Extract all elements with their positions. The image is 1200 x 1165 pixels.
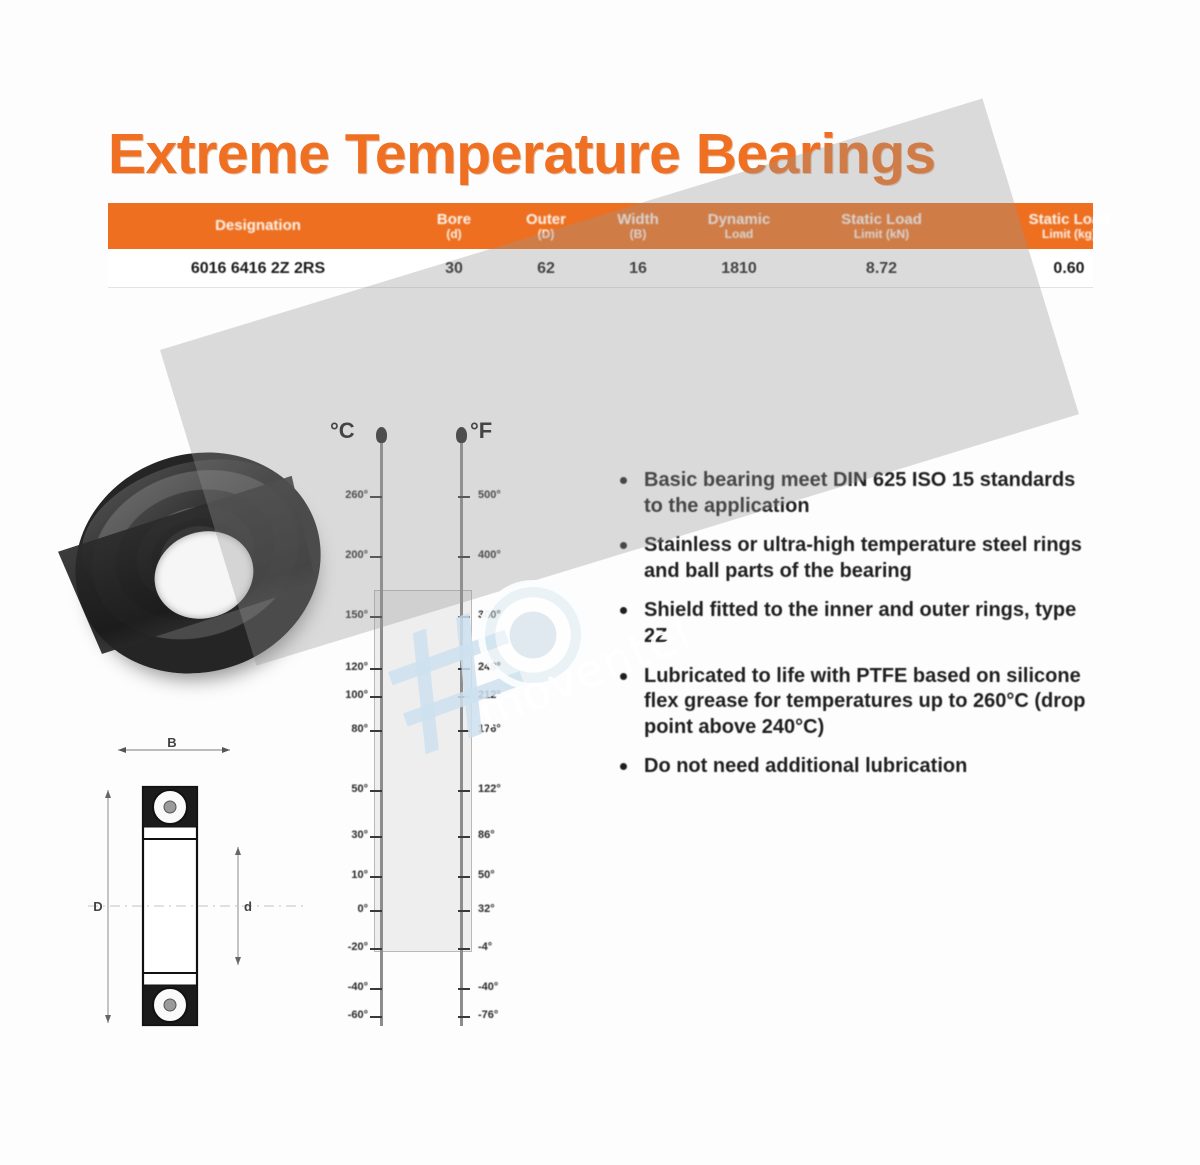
operating-range-box xyxy=(374,590,472,952)
thermometer-tube-fahrenheit xyxy=(460,432,463,1026)
feature-list: Basic bearing meet DIN 625 ISO 15 standa… xyxy=(578,468,1088,794)
column-header-width: Width (B) xyxy=(592,212,684,240)
cell-static-load-kn: 8.72 xyxy=(794,260,969,278)
dimension-label-width: B xyxy=(167,735,176,750)
tick-label-fahrenheit: -76° xyxy=(478,1009,526,1021)
tick-label-celsius: 120° xyxy=(324,661,368,673)
column-header-bore: Bore (d) xyxy=(408,212,500,240)
column-header-dynamic-load: Dynamic Load xyxy=(684,212,794,240)
tick-label-fahrenheit: 300° xyxy=(478,609,526,621)
list-item: Shield fitted to the inner and outer rin… xyxy=(618,598,1088,649)
column-header-designation-label: Designation xyxy=(215,217,301,234)
bearing-cross-section-drawing: B D d xyxy=(80,735,315,1035)
cell-dynamic-load: 1810 xyxy=(684,260,794,278)
thermometer-tube-celsius xyxy=(380,432,383,1026)
cell-static-load-kg: 0.60 xyxy=(969,260,1169,278)
column-header-dynamic-load-sub: Load xyxy=(684,228,794,241)
page-title: Extreme Temperature Bearings xyxy=(108,121,1093,187)
tick-fahrenheit xyxy=(458,696,470,698)
tick-label-fahrenheit: -40° xyxy=(478,981,526,993)
tick-celsius xyxy=(370,790,382,792)
tick-celsius xyxy=(370,836,382,838)
tick-fahrenheit xyxy=(458,1016,470,1018)
column-header-static-load-kg: Static Load Limit (kg) xyxy=(969,212,1169,240)
tick-fahrenheit xyxy=(458,730,470,732)
tick-label-fahrenheit: 86° xyxy=(478,829,526,841)
tick-fahrenheit xyxy=(458,556,470,558)
tick-celsius xyxy=(370,730,382,732)
column-header-dynamic-load-label: Dynamic xyxy=(708,211,771,228)
column-header-bore-label: Bore xyxy=(437,211,471,228)
list-item: Do not need additional lubrication xyxy=(618,754,1088,780)
tick-fahrenheit xyxy=(458,616,470,618)
tick-fahrenheit xyxy=(458,836,470,838)
column-header-width-sub: (B) xyxy=(592,228,684,241)
table-row: 6016 6416 2Z 2RS 30 62 16 1810 8.72 0.60 xyxy=(108,251,1093,288)
tick-label-celsius: 50° xyxy=(324,783,368,795)
tick-label-celsius: -20° xyxy=(324,941,368,953)
tick-celsius xyxy=(370,556,382,558)
dimension-label-bore: d xyxy=(244,899,252,914)
tick-label-fahrenheit: 50° xyxy=(478,869,526,881)
scale-unit-celsius: °C xyxy=(330,418,355,444)
column-header-outer: Outer (D) xyxy=(500,212,592,240)
tick-label-fahrenheit: -4° xyxy=(478,941,526,953)
column-header-static-load-kg-sub: Limit (kg) xyxy=(969,228,1169,241)
column-header-bore-sub: (d) xyxy=(408,228,500,241)
tick-celsius xyxy=(370,910,382,912)
column-header-static-load-kg-label: Static Load xyxy=(1029,211,1110,228)
tick-celsius xyxy=(370,988,382,990)
cell-bore: 30 xyxy=(408,260,500,278)
bearing-product-photo xyxy=(62,424,342,724)
tick-fahrenheit xyxy=(458,668,470,670)
column-header-width-label: Width xyxy=(617,211,659,228)
column-header-static-load-kn: Static Load Limit (kN) xyxy=(794,212,969,240)
list-item: Basic bearing meet DIN 625 ISO 15 standa… xyxy=(618,468,1088,519)
cell-outer: 62 xyxy=(500,260,592,278)
tick-label-celsius: 10° xyxy=(324,869,368,881)
tick-label-celsius: 200° xyxy=(324,549,368,561)
tick-label-celsius: 150° xyxy=(324,609,368,621)
tick-label-fahrenheit: 248° xyxy=(478,661,526,673)
list-item: Stainless or ultra-high temperature stee… xyxy=(618,533,1088,584)
column-header-designation: Designation xyxy=(108,218,408,234)
table-header-row: Designation Bore (d) Outer (D) Width (B)… xyxy=(108,203,1093,251)
tick-label-fahrenheit: 500° xyxy=(478,489,526,501)
tick-label-celsius: 30° xyxy=(324,829,368,841)
specification-table: Designation Bore (d) Outer (D) Width (B)… xyxy=(108,203,1093,288)
tick-fahrenheit xyxy=(458,790,470,792)
tick-fahrenheit xyxy=(458,948,470,950)
tick-fahrenheit xyxy=(458,910,470,912)
tick-celsius xyxy=(370,668,382,670)
tick-celsius xyxy=(370,616,382,618)
tick-fahrenheit xyxy=(458,496,470,498)
tick-label-celsius: 80° xyxy=(324,723,368,735)
tick-fahrenheit xyxy=(458,876,470,878)
tick-label-celsius: -40° xyxy=(324,981,368,993)
tick-fahrenheit xyxy=(458,988,470,990)
product-datasheet-page: Extreme Temperature Bearings Designation… xyxy=(0,0,1200,1165)
column-header-outer-sub: (D) xyxy=(500,228,592,241)
tick-label-fahrenheit: 32° xyxy=(478,903,526,915)
tick-celsius xyxy=(370,496,382,498)
tick-label-fahrenheit: 400° xyxy=(478,549,526,561)
scale-unit-fahrenheit: °F xyxy=(470,418,492,444)
tick-label-celsius: -60° xyxy=(324,1009,368,1021)
tick-label-fahrenheit: 212° xyxy=(478,689,526,701)
tick-label-fahrenheit: 176° xyxy=(478,723,526,735)
tick-label-fahrenheit: 122° xyxy=(478,783,526,795)
dimension-label-outer: D xyxy=(93,899,102,914)
tick-label-celsius: 100° xyxy=(324,689,368,701)
tick-celsius xyxy=(370,876,382,878)
column-header-static-load-kn-label: Static Load xyxy=(841,211,922,228)
column-header-outer-label: Outer xyxy=(526,211,566,228)
cell-width: 16 xyxy=(592,260,684,278)
tick-label-celsius: 260° xyxy=(324,489,368,501)
tick-celsius xyxy=(370,1016,382,1018)
tick-celsius xyxy=(370,696,382,698)
tick-label-celsius: 0° xyxy=(324,903,368,915)
column-header-static-load-kn-sub: Limit (kN) xyxy=(794,228,969,241)
temperature-scale-chart: °C °F 260°500°200°400°150°300°120°248°10… xyxy=(312,418,562,1028)
list-item: Lubricated to life with PTFE based on si… xyxy=(618,664,1088,741)
cell-designation: 6016 6416 2Z 2RS xyxy=(108,260,408,278)
tick-celsius xyxy=(370,948,382,950)
